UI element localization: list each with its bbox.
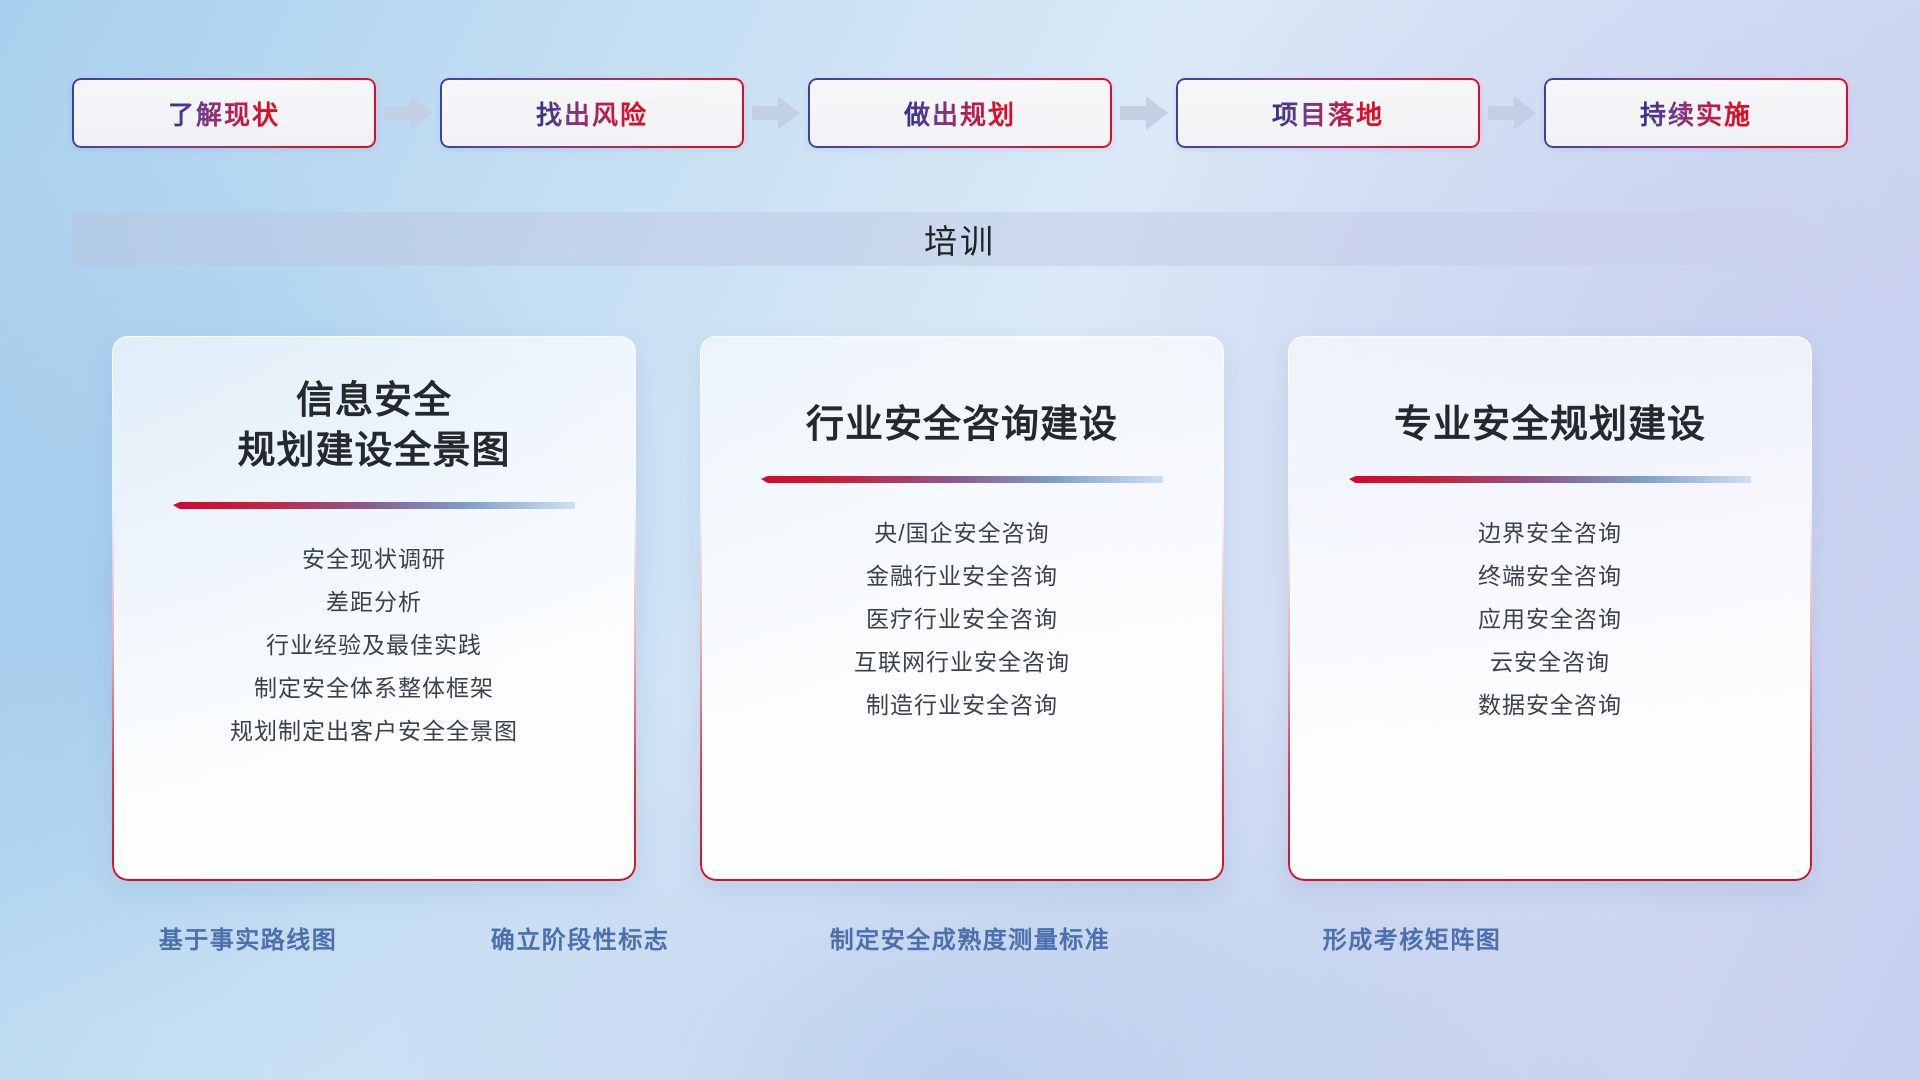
- card-1-list: 安全现状调研 差距分析 行业经验及最佳实践 制定安全体系整体框架 规划制定出客户…: [140, 538, 608, 753]
- list-item: 制定安全体系整体框架: [140, 667, 608, 710]
- card-3-title-line-1: 专业安全规划建设: [1394, 400, 1706, 450]
- card-3-title: 专业安全规划建设: [1394, 400, 1706, 450]
- card-1-title-line-1: 信息安全: [237, 376, 510, 426]
- list-item: 终端安全咨询: [1316, 555, 1784, 598]
- list-item: 金融行业安全咨询: [728, 555, 1196, 598]
- step-box-2[interactable]: 找出风险: [440, 78, 744, 148]
- card-1-divider: [173, 502, 575, 516]
- footer-label-row: 基于事实路线图 确立阶段性标志 制定安全成熟度测量标准 形成考核矩阵图: [0, 920, 1920, 960]
- step-box-5[interactable]: 持续实施: [1544, 78, 1848, 148]
- card-row: 信息安全 规划建设全景图: [112, 336, 1812, 881]
- slide-canvas: 了解现状 找出风险 做出规划 项目落地: [0, 0, 1920, 1080]
- step-arrow-icon-2: [744, 91, 808, 135]
- list-item: 制造行业安全咨询: [728, 684, 1196, 727]
- step-arrow-icon-4: [1480, 91, 1544, 135]
- list-item: 规划制定出客户安全全景图: [140, 710, 608, 753]
- step-label-5: 持续实施: [1640, 95, 1752, 132]
- list-item: 安全现状调研: [140, 538, 608, 581]
- step-label-4: 项目落地: [1272, 95, 1384, 132]
- card-2-divider: [761, 476, 1163, 490]
- list-item: 差距分析: [140, 581, 608, 624]
- list-item: 数据安全咨询: [1316, 684, 1784, 727]
- list-item: 应用安全咨询: [1316, 598, 1784, 641]
- step-label-3: 做出规划: [904, 95, 1016, 132]
- step-box-3[interactable]: 做出规划: [808, 78, 1112, 148]
- footer-label-1: 基于事实路线图: [159, 920, 338, 955]
- training-band: 培训: [72, 205, 1848, 273]
- list-item: 央/国企安全咨询: [728, 512, 1196, 555]
- card-1[interactable]: 信息安全 规划建设全景图: [112, 336, 636, 881]
- card-2-title-line-1: 行业安全咨询建设: [806, 400, 1118, 450]
- step-arrow-icon-1: [376, 91, 440, 135]
- card-3[interactable]: 专业安全规划建设 边界安: [1288, 336, 1812, 881]
- list-item: 边界安全咨询: [1316, 512, 1784, 555]
- footer-label-3: 制定安全成熟度测量标准: [830, 920, 1111, 955]
- step-arrow-icon-3: [1112, 91, 1176, 135]
- card-1-title-line-2: 规划建设全景图: [237, 426, 510, 476]
- card-2-title: 行业安全咨询建设: [806, 400, 1118, 450]
- step-box-4[interactable]: 项目落地: [1176, 78, 1480, 148]
- process-step-row: 了解现状 找出风险 做出规划 项目落地: [72, 78, 1848, 148]
- footer-label-4: 形成考核矩阵图: [1323, 920, 1502, 955]
- card-3-divider: [1349, 476, 1751, 490]
- step-label-1: 了解现状: [168, 95, 280, 132]
- card-3-list: 边界安全咨询 终端安全咨询 应用安全咨询 云安全咨询 数据安全咨询: [1316, 512, 1784, 727]
- list-item: 医疗行业安全咨询: [728, 598, 1196, 641]
- list-item: 云安全咨询: [1316, 641, 1784, 684]
- step-box-1[interactable]: 了解现状: [72, 78, 376, 148]
- list-item: 互联网行业安全咨询: [728, 641, 1196, 684]
- card-2-list: 央/国企安全咨询 金融行业安全咨询 医疗行业安全咨询 互联网行业安全咨询 制造行…: [728, 512, 1196, 727]
- training-label: 培训: [72, 205, 1848, 273]
- step-label-2: 找出风险: [536, 95, 648, 132]
- footer-label-2: 确立阶段性标志: [491, 920, 670, 955]
- list-item: 行业经验及最佳实践: [140, 624, 608, 667]
- card-1-title: 信息安全 规划建设全景图: [237, 376, 510, 476]
- card-2[interactable]: 行业安全咨询建设 央/国: [700, 336, 1224, 881]
